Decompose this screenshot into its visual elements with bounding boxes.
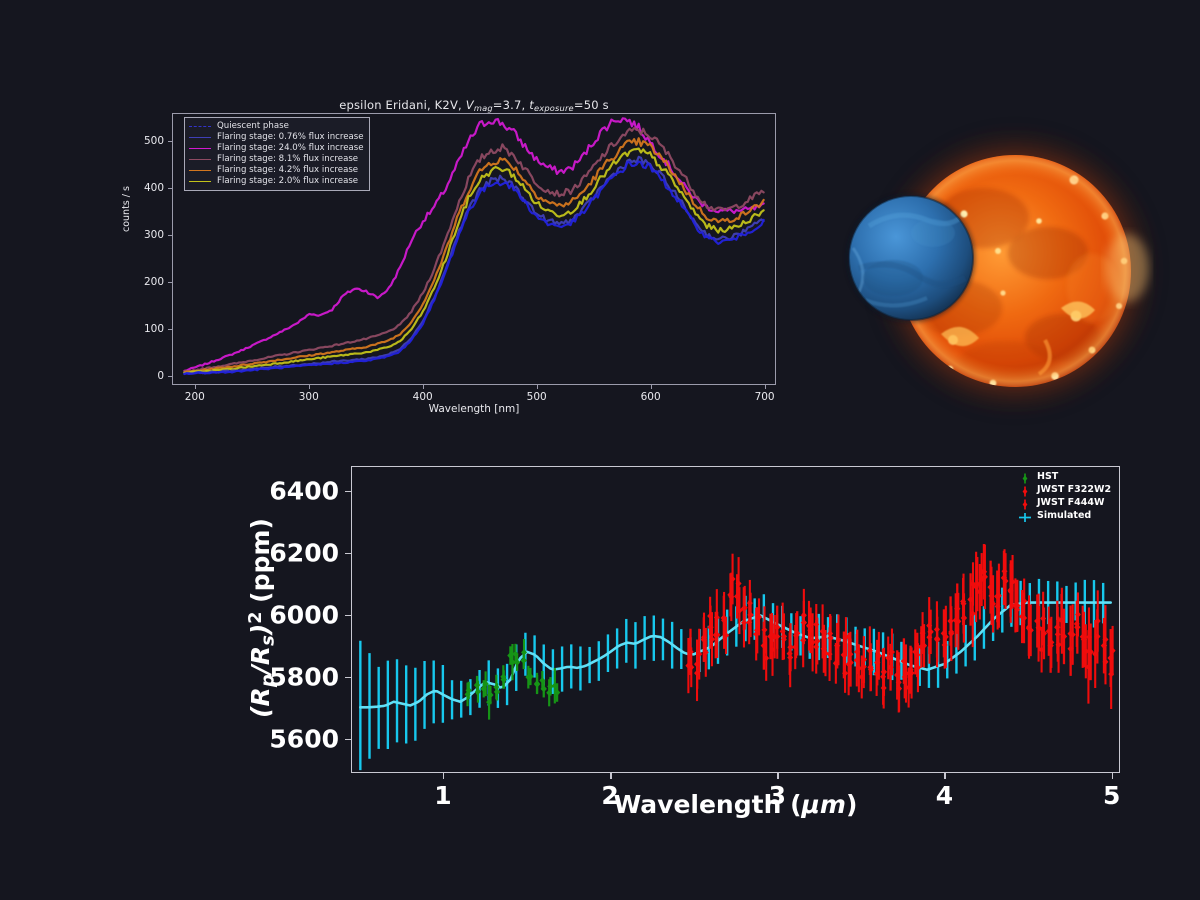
bottom-legend-item-label: Simulated xyxy=(1037,510,1091,521)
top-xtick-mark xyxy=(651,385,652,389)
top-ytick-label: 100 xyxy=(144,323,164,335)
legend-item-label: Flaring stage: 2.0% flux increase xyxy=(217,176,358,187)
top-xtick-mark xyxy=(423,385,424,389)
legend-item-4: Flaring stage: 4.2% flux increase xyxy=(189,165,364,176)
top-ytick-mark xyxy=(168,141,172,142)
bottom-chart-xlabel: Wavelength (μm) xyxy=(351,790,1120,819)
title-prefix: epsilon Eridani, K2V, xyxy=(339,98,466,112)
top-xtick-label: 500 xyxy=(527,391,547,403)
top-chart-title: epsilon Eridani, K2V, Vmag=3.7, texposur… xyxy=(172,98,776,113)
legend-swatch-icon xyxy=(189,126,211,127)
legend-swatch-icon xyxy=(189,137,211,138)
star-planet-transit-image xyxy=(793,108,1185,433)
top-ytick-label: 400 xyxy=(144,182,164,194)
top-ytick-label: 300 xyxy=(144,229,164,241)
bottom-xtick-mark xyxy=(610,773,611,779)
top-chart-xlabel: Wavelength [nm] xyxy=(172,403,776,415)
legend-item-label: Quiescent phase xyxy=(217,121,289,132)
bottom-ytick-label: 6000 xyxy=(269,600,339,629)
ylabel-p-sub: p xyxy=(257,674,278,687)
top-ytick-label: 500 xyxy=(144,135,164,147)
bottom-legend-item-2: JWST F444W xyxy=(1018,496,1111,509)
legend-swatch-icon xyxy=(189,148,211,149)
bottom-chart-plot-area xyxy=(351,466,1120,773)
top-chart-legend: Quiescent phaseFlaring stage: 0.76% flux… xyxy=(184,117,370,191)
diamond-marker-icon xyxy=(1018,483,1032,496)
figure-canvas: epsilon Eridani, K2V, Vmag=3.7, texposur… xyxy=(0,0,1200,900)
top-ytick-mark xyxy=(168,329,172,330)
xlabel-unit: μm xyxy=(802,790,846,819)
bottom-legend-item-label: HST xyxy=(1037,471,1058,482)
star-illustration-svg xyxy=(793,108,1185,433)
diamond-marker-icon xyxy=(1018,470,1032,483)
legend-item-label: Flaring stage: 8.1% flux increase xyxy=(217,154,358,165)
bottom-legend-item-0: HST xyxy=(1018,470,1111,483)
ylabel-s-sub: s xyxy=(257,635,278,646)
legend-item-label: Flaring stage: 24.0% flux increase xyxy=(217,143,364,154)
title-t-sub: exposure xyxy=(534,103,574,113)
bottom-xtick-mark xyxy=(443,773,444,779)
bottom-ytick-label: 6200 xyxy=(269,538,339,567)
legend-swatch-icon xyxy=(189,159,211,160)
top-ytick-mark xyxy=(168,376,172,377)
legend-swatch-icon xyxy=(189,170,211,171)
top-ytick-label: 0 xyxy=(157,370,164,382)
bottom-ytick-mark xyxy=(345,739,351,740)
bottom-legend-item-label: JWST F444W xyxy=(1037,497,1104,508)
top-ytick-mark xyxy=(168,235,172,236)
top-xtick-label: 600 xyxy=(641,391,661,403)
ylabel-slash: / xyxy=(246,665,275,674)
top-xtick-mark xyxy=(537,385,538,389)
bottom-ytick-label: 5600 xyxy=(269,724,339,753)
legend-item-label: Flaring stage: 4.2% flux increase xyxy=(217,165,358,176)
title-v-value: =3.7, xyxy=(493,98,529,112)
bottom-ytick-mark xyxy=(345,677,351,678)
xlabel-prefix: Wavelength ( xyxy=(614,790,802,819)
bottom-legend-item-1: JWST F322W2 xyxy=(1018,483,1111,496)
top-xtick-mark xyxy=(195,385,196,389)
legend-item-2: Flaring stage: 24.0% flux increase xyxy=(189,143,364,154)
legend-item-1: Flaring stage: 0.76% flux increase xyxy=(189,132,364,143)
ylabel-rp: R xyxy=(246,687,275,706)
legend-item-5: Flaring stage: 2.0% flux increase xyxy=(189,176,364,187)
bottom-legend-item-label: JWST F322W2 xyxy=(1037,484,1111,495)
top-xtick-label: 700 xyxy=(755,391,775,403)
errorbar-line-icon xyxy=(1018,509,1032,522)
title-t-value: =50 s xyxy=(574,98,609,112)
bottom-ytick-label: 6400 xyxy=(269,476,339,505)
xlabel-suffix: ) xyxy=(846,790,857,819)
top-xtick-label: 400 xyxy=(413,391,433,403)
bottom-ytick-mark xyxy=(345,553,351,554)
bottom-xtick-mark xyxy=(944,773,945,779)
title-v-symbol: V xyxy=(466,98,474,112)
legend-item-0: Quiescent phase xyxy=(189,121,364,132)
top-xtick-mark xyxy=(765,385,766,389)
bottom-ytick-mark xyxy=(345,615,351,616)
ylabel-square: 2 xyxy=(246,612,266,624)
diamond-marker-icon xyxy=(1018,496,1032,509)
top-ytick-mark xyxy=(168,188,172,189)
top-xtick-label: 300 xyxy=(299,391,319,403)
bottom-chart-ylabel: (Rp/Rs)2 (ppm) xyxy=(246,518,279,718)
top-xtick-mark xyxy=(309,385,310,389)
bottom-legend-item-3: Simulated xyxy=(1018,509,1111,522)
legend-swatch-icon xyxy=(189,181,211,182)
legend-item-label: Flaring stage: 0.76% flux increase xyxy=(217,132,364,143)
top-xtick-label: 200 xyxy=(185,391,205,403)
bottom-xtick-mark xyxy=(1112,773,1113,779)
top-chart-ylabel: counts / s xyxy=(121,186,132,232)
ylabel-close: ) xyxy=(246,624,275,635)
bottom-xtick-mark xyxy=(777,773,778,779)
ylabel-unit: (ppm) xyxy=(246,518,275,611)
top-ytick-label: 200 xyxy=(144,276,164,288)
ylabel-open: ( xyxy=(246,706,275,717)
bottom-chart-legend: HSTJWST F322W2JWST F444WSimulated xyxy=(1012,466,1117,526)
transmission-spectrum-svg xyxy=(352,467,1119,772)
top-ytick-mark xyxy=(168,282,172,283)
bottom-ytick-mark xyxy=(345,491,351,492)
bottom-ytick-label: 5800 xyxy=(269,662,339,691)
title-v-sub: mag xyxy=(474,103,493,113)
legend-item-3: Flaring stage: 8.1% flux increase xyxy=(189,154,364,165)
ylabel-rs: R xyxy=(246,646,275,665)
